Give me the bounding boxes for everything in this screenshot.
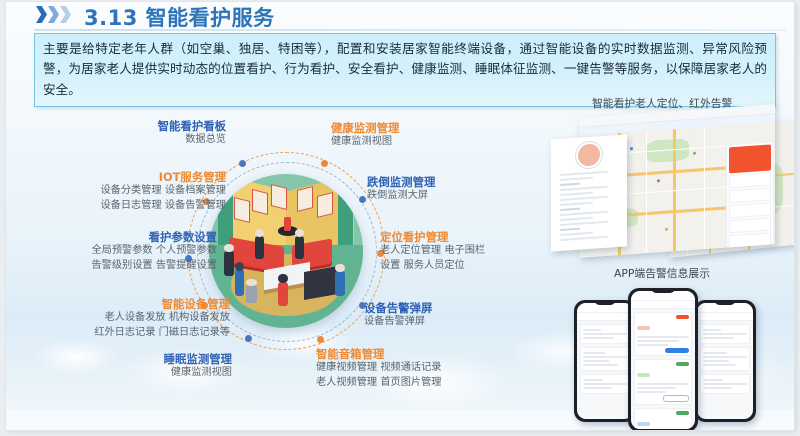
page-title: 3.13 智能看护服务	[84, 2, 275, 32]
label-line: 告警级别设置 告警提醒设置	[12, 259, 217, 273]
label-device-alarm-popup[interactable]: 设备告警弹屏 设备告警弹屏	[364, 301, 564, 330]
label-heading: 智能音箱管理	[316, 347, 536, 361]
elder-profile-card	[551, 134, 627, 251]
label-fall-monitoring-management[interactable]: 跌倒监测管理 跌倒监测大屏	[367, 175, 567, 204]
phone-left	[574, 300, 636, 422]
label-smart-speaker-management[interactable]: 智能音箱管理 健康视频管理 视频通话记录 老人视频管理 首页图片管理	[316, 347, 536, 390]
header-divider	[34, 29, 786, 31]
label-smart-care-dashboard[interactable]: 智能看护看板 数据总览	[36, 119, 226, 148]
label-line: 设备分类管理 设备档案管理	[16, 184, 226, 198]
label-line: 健康监测视图	[66, 366, 232, 380]
label-heading: 睡眠监测管理	[66, 352, 232, 366]
label-sleep-monitoring-management[interactable]: 睡眠监测管理 健康监测视图	[66, 352, 232, 381]
ring-dot-9	[245, 335, 252, 342]
avatar	[576, 141, 602, 169]
label-health-monitoring-management[interactable]: 健康监测管理 健康监测视图	[331, 121, 531, 150]
phone-center	[628, 288, 698, 430]
label-location-care-management[interactable]: 定位看护管理 老人定位管理 电子围栏 设置 服务人员定位	[380, 230, 580, 273]
slide-canvas: 3.13 智能看护服务 主要是给特定老年人群（如空巢、独居、特困等），配置和安装…	[6, 2, 794, 430]
label-heading: 定位看护管理	[380, 230, 580, 244]
label-heading: 设备告警弹屏	[364, 301, 564, 315]
ring-dot-4	[359, 196, 366, 203]
nursing-home-illustration	[209, 174, 363, 328]
label-heading: IOT服务管理	[16, 170, 226, 184]
label-smart-device-management[interactable]: 智能设备管理 老人设备发放 机构设备发放 红外日志记录 门磁日志记录等	[20, 297, 230, 340]
label-line: 跌倒监测大屏	[367, 189, 567, 203]
label-line: 全局预警参数 个人预警参数	[12, 244, 217, 258]
label-heading: 智能看护看板	[36, 119, 226, 133]
slide-header: 3.13 智能看护服务	[6, 2, 794, 28]
label-line: 设备日志管理 设备告警管理	[16, 199, 226, 213]
ring-dot-1	[239, 160, 246, 167]
label-heading: 跌倒监测管理	[367, 175, 567, 189]
label-line: 设置 服务人员定位	[380, 259, 580, 273]
label-line: 设备告警弹屏	[364, 315, 564, 329]
phones-caption: APP端告警信息展示	[614, 265, 710, 281]
label-line: 老人设备发放 机构设备发放	[20, 311, 230, 325]
label-line: 健康视频管理 视频通话记录	[316, 361, 536, 375]
label-line: 红外日志记录 门磁日志记录等	[20, 326, 230, 340]
label-heading: 健康监测管理	[331, 121, 531, 135]
label-heading: 智能设备管理	[20, 297, 230, 311]
label-line: 健康监测视图	[331, 135, 531, 149]
ring-dot-2	[321, 160, 328, 167]
label-line: 数据总览	[36, 133, 226, 147]
phone-right	[694, 300, 756, 422]
label-iot-service-management[interactable]: IOT服务管理 设备分类管理 设备档案管理 设备日志管理 设备告警管理	[16, 170, 226, 213]
label-care-parameter-settings[interactable]: 看护参数设置 全局预警参数 个人预警参数 告警级别设置 告警提醒设置	[12, 230, 217, 273]
desktop-screenshot-group[interactable]	[551, 109, 794, 269]
label-heading: 看护参数设置	[12, 230, 217, 244]
ring-dot-10	[317, 336, 324, 343]
label-line: 老人定位管理 电子围栏	[380, 244, 580, 258]
double-chevron-right-icon	[36, 6, 71, 23]
label-line: 老人视频管理 首页图片管理	[316, 376, 536, 390]
phone-mockup-group[interactable]	[566, 288, 794, 430]
